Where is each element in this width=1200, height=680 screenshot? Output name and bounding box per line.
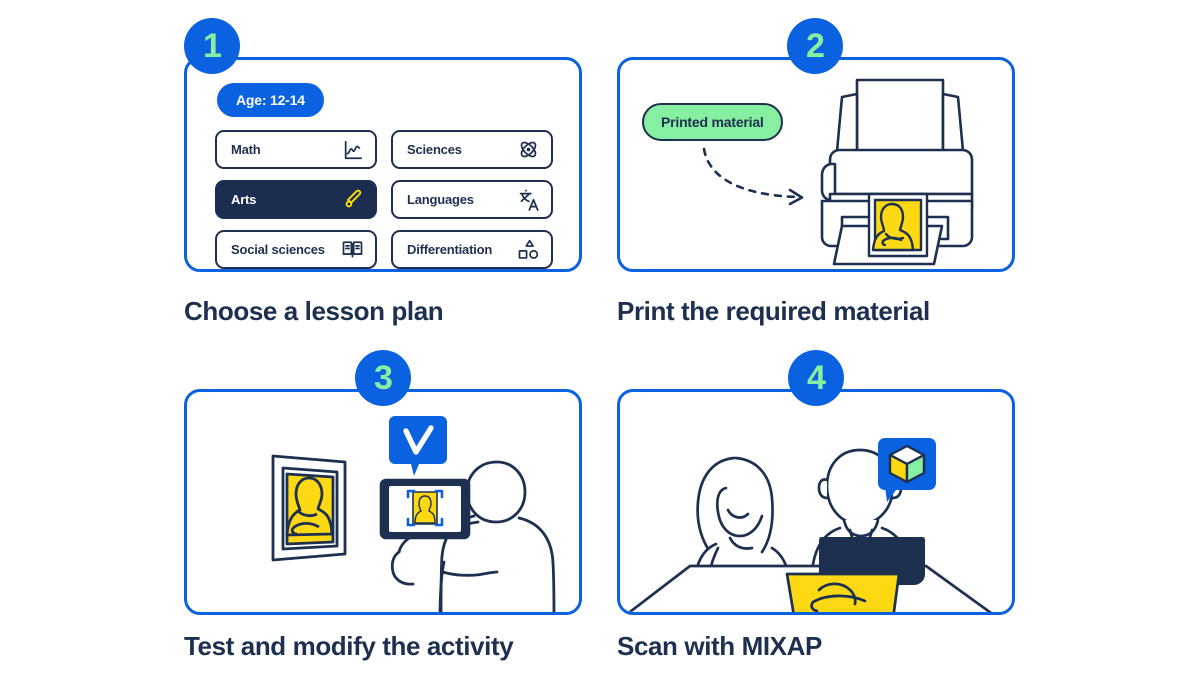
open-book-icon (341, 238, 364, 261)
step-panel-3-inner (187, 392, 579, 612)
subject-button-sciences[interactable]: Sciences (391, 130, 553, 169)
step-panel-4 (617, 389, 1015, 615)
paintbrush-icon (340, 188, 364, 212)
framed-painting-icon (267, 450, 357, 565)
shapes-icon (517, 238, 540, 261)
yellow-poster-icon (783, 572, 903, 612)
dashed-arrow-icon (698, 145, 828, 215)
step-panel-3 (184, 389, 582, 615)
step-caption-1: Choose a lesson plan (184, 296, 443, 327)
step-caption-4: Scan with MIXAP (617, 631, 822, 662)
step-panel-2-inner: Printed material (620, 60, 1012, 269)
cube-bubble-icon (875, 436, 941, 508)
subject-button-differentiation[interactable]: Differentiation (391, 230, 553, 269)
step-badge-2: 2 (787, 18, 843, 74)
age-filter-pill[interactable]: Age: 12-14 (217, 83, 324, 117)
subject-label: Languages (407, 192, 474, 207)
step-badge-3: 3 (355, 350, 411, 406)
infographic-board: 1 Age: 12-14 Math (0, 0, 1200, 680)
subject-button-social-sciences[interactable]: Social sciences (215, 230, 377, 269)
subject-button-arts[interactable]: Arts (215, 180, 377, 219)
subject-button-languages[interactable]: Languages (391, 180, 553, 219)
step-panel-1-inner: Age: 12-14 Math Sci (187, 60, 579, 269)
tablet-scanning-icon (379, 478, 471, 544)
step-badge-1: 1 (184, 18, 240, 74)
checkmark-bubble-icon (387, 414, 449, 480)
step-panel-1: Age: 12-14 Math Sci (184, 57, 582, 272)
subject-label: Math (231, 142, 261, 157)
step-badge-4: 4 (788, 350, 844, 406)
translate-icon (516, 188, 540, 212)
subject-label: Differentiation (407, 242, 492, 257)
subject-button-math[interactable]: Math (215, 130, 377, 169)
step-panel-4-inner (620, 392, 1012, 612)
step-panel-2: Printed material (617, 57, 1015, 272)
step-caption-3: Test and modify the activity (184, 631, 513, 662)
printed-material-pill: Printed material (642, 103, 783, 141)
chart-line-icon (342, 139, 364, 161)
subject-label: Sciences (407, 142, 462, 157)
mona-lisa-print-icon (867, 192, 929, 258)
step-caption-2: Print the required material (617, 296, 930, 327)
subject-label: Social sciences (231, 242, 325, 257)
subject-label: Arts (231, 192, 256, 207)
subject-grid: Math Sciences (215, 130, 555, 269)
atom-icon (517, 138, 540, 161)
